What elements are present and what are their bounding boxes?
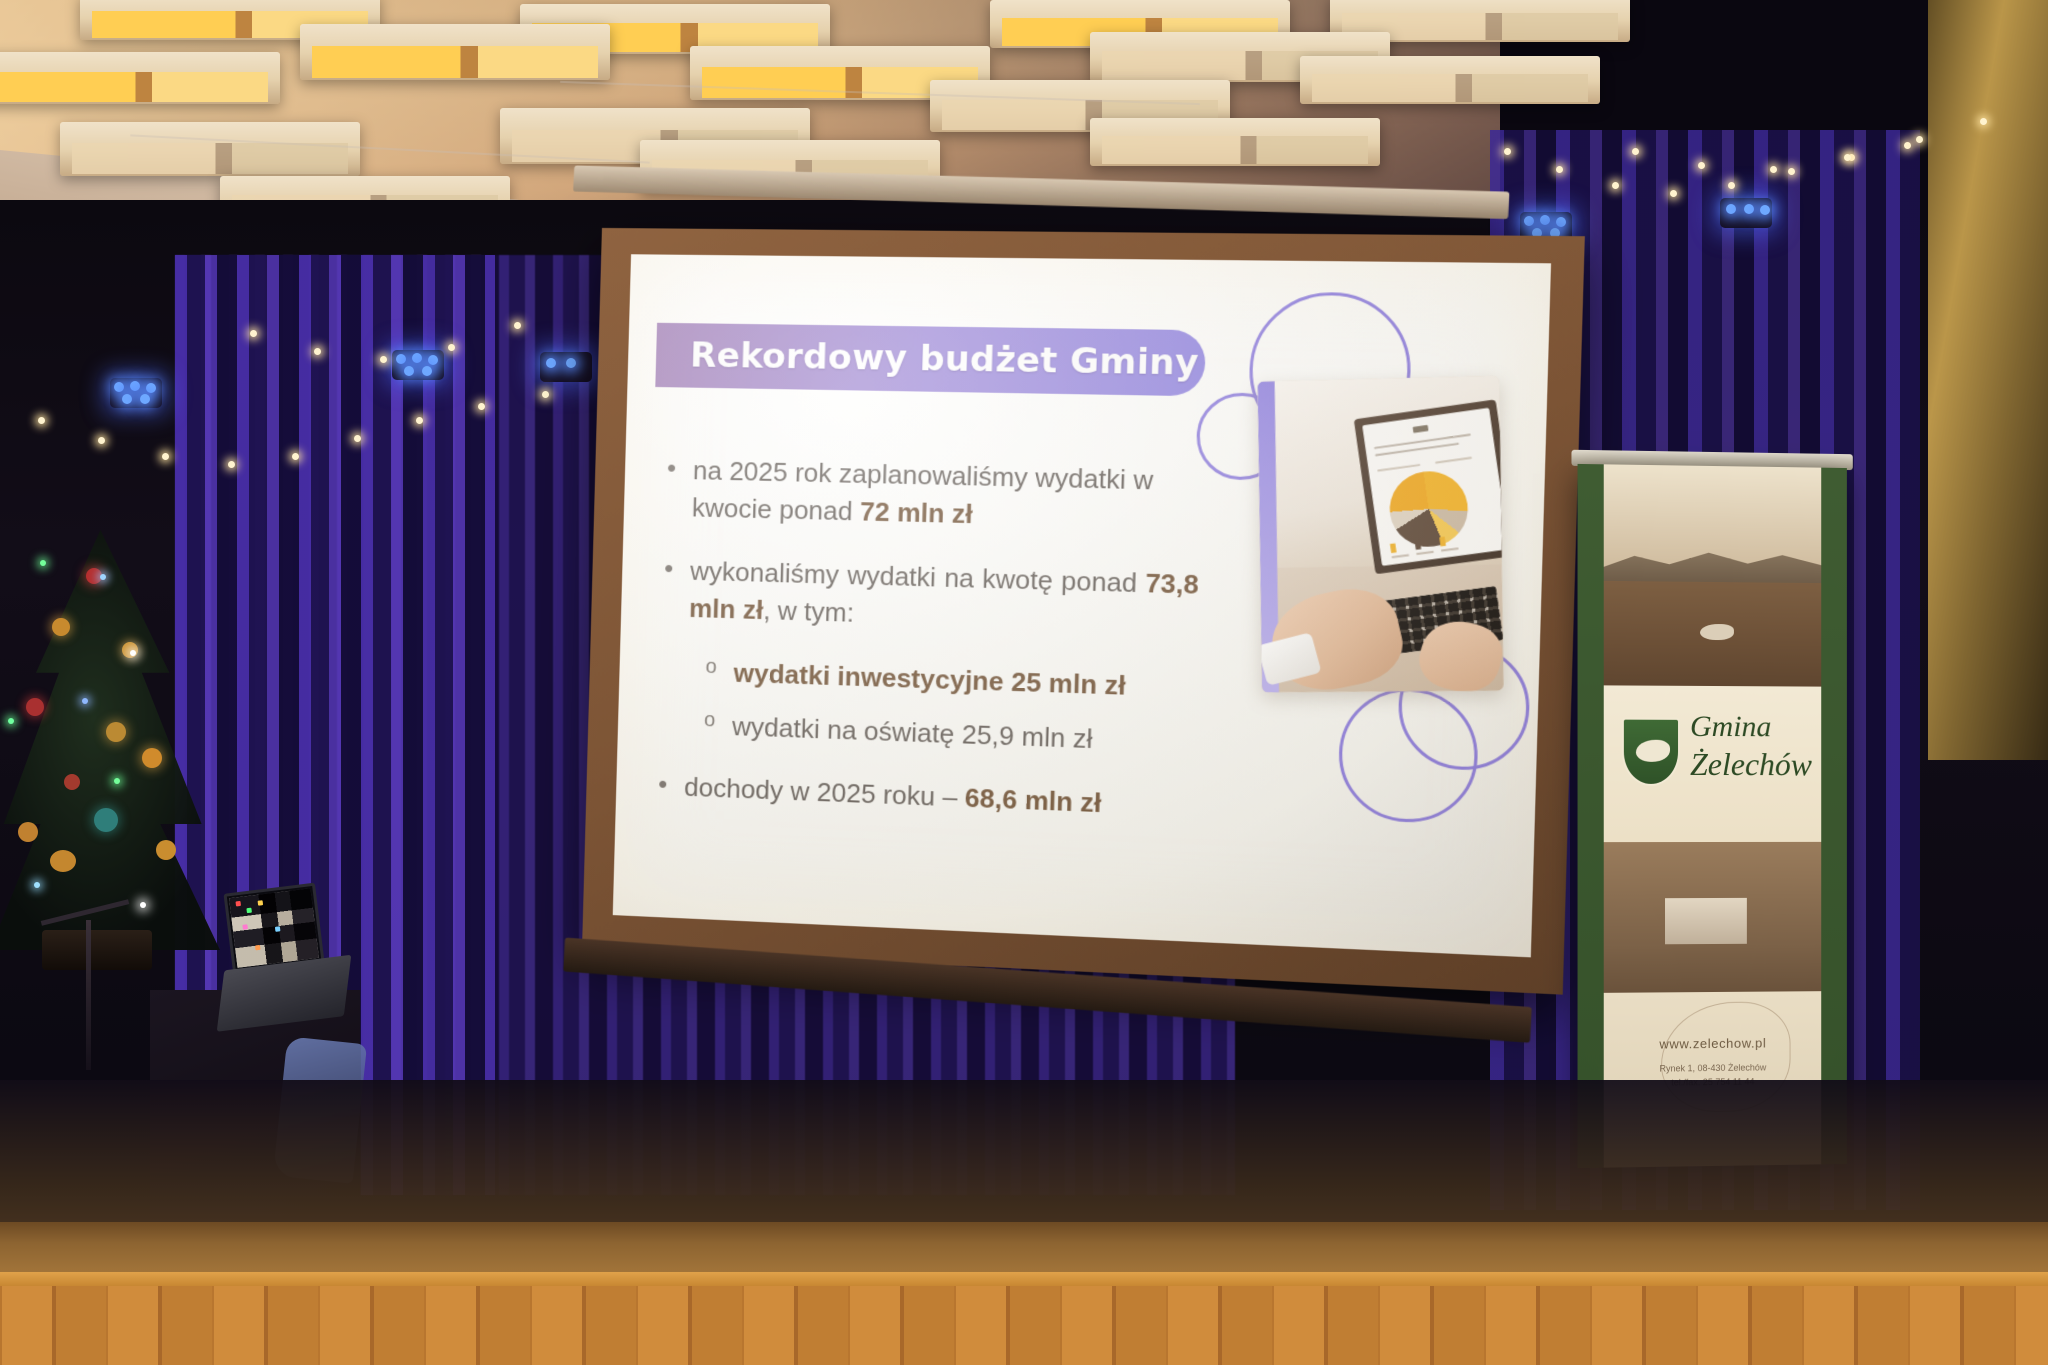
sub-bullet-text-bold: wydatki inwestycyjne 25 mln zł bbox=[733, 657, 1126, 700]
tree-light bbox=[82, 698, 88, 704]
tree-light bbox=[34, 882, 40, 888]
slide-graphic bbox=[1175, 276, 1546, 827]
tree-ornament bbox=[18, 822, 38, 842]
presentation-slide: Rekordowy budżet Gminy • na 2025 rok zap… bbox=[613, 254, 1551, 957]
sub-bullet-marker: o bbox=[705, 653, 734, 691]
control-laptop[interactable] bbox=[223, 883, 324, 974]
bullet-text: na 2025 rok zaplanowaliśmy wydatki w kwo… bbox=[691, 452, 1202, 539]
bullet-text-bold: 72 mln zł bbox=[860, 496, 974, 529]
photo-laptop-screen bbox=[1354, 399, 1504, 574]
banner-swan-photo bbox=[1700, 624, 1734, 640]
tree-light bbox=[100, 574, 106, 580]
coat-of-arms-icon bbox=[1622, 718, 1680, 786]
bullet-text-bold: 68,6 mln zł bbox=[964, 783, 1102, 819]
bullet-item: • dochody w 2025 roku – 68,6 mln zł bbox=[658, 768, 1193, 826]
banner-palace bbox=[1665, 898, 1747, 944]
banner-frame: Gmina Żelechów www.zelechow.pl Rynek 1, … bbox=[1578, 464, 1847, 1168]
bullet-text: wykonaliśmy wydatki na kwotę ponad 73,8 … bbox=[689, 552, 1200, 641]
christmas-tree bbox=[0, 530, 220, 950]
tree-light bbox=[114, 778, 120, 784]
fairy-light-string bbox=[30, 395, 590, 485]
tree-ornament bbox=[64, 774, 80, 790]
rollup-banner: Gmina Żelechów www.zelechow.pl Rynek 1, … bbox=[1578, 464, 1847, 1168]
bullet-marker: • bbox=[663, 552, 691, 627]
banner-artwork: Gmina Żelechów www.zelechow.pl Rynek 1, … bbox=[1604, 464, 1821, 1167]
sub-bullet-text: wydatki na oświatę 25,9 mln zł bbox=[732, 707, 1195, 761]
projection-screen: Rekordowy budżet Gminy • na 2025 rok zap… bbox=[582, 228, 1585, 995]
bullet-marker: • bbox=[665, 452, 693, 527]
venue-photo: Rekordowy budżet Gminy • na 2025 rok zap… bbox=[0, 0, 2048, 1365]
bullet-text-before: wykonaliśmy wydatki na kwotę ponad bbox=[690, 555, 1146, 598]
banner-town-photo bbox=[1604, 842, 1821, 993]
banner-website: www.zelechow.pl bbox=[1604, 1035, 1821, 1052]
sub-bullet-text: wydatki inwestycyjne 25 mln zł bbox=[733, 654, 1196, 707]
laptop-photo bbox=[1258, 376, 1504, 693]
stage-front-panelling bbox=[0, 1286, 2048, 1365]
screen-frame: Rekordowy budżet Gminy • na 2025 rok zap… bbox=[582, 228, 1585, 995]
tree-ornament bbox=[52, 618, 70, 636]
sub-bullet-item: o wydatki na oświatę 25,9 mln zł bbox=[703, 706, 1194, 761]
bullet-item: • na 2025 rok zaplanowaliśmy wydatki w k… bbox=[665, 452, 1202, 539]
tree-stand bbox=[42, 930, 152, 970]
ceiling-light-fixture bbox=[60, 122, 360, 176]
banner-title-line1: Gmina bbox=[1690, 710, 1813, 744]
tree-ornament bbox=[26, 698, 44, 716]
banner-title-line2: Żelechów bbox=[1690, 746, 1813, 783]
tree-light bbox=[40, 560, 46, 566]
ceiling-light-fixture bbox=[300, 24, 610, 80]
slide-bullet-list: • na 2025 rok zaplanowaliśmy wydatki w k… bbox=[657, 452, 1202, 854]
ceiling-light-fixture bbox=[1090, 118, 1380, 166]
sub-bullet-marker: o bbox=[703, 706, 732, 744]
bullet-marker: • bbox=[658, 768, 685, 806]
tree-ornament bbox=[142, 748, 162, 768]
slide-title-pill: Rekordowy budżet Gminy bbox=[655, 323, 1206, 397]
photo-chart-legend bbox=[1390, 535, 1459, 558]
fairy-light-string bbox=[240, 300, 580, 390]
bullet-text-after: , w tym: bbox=[763, 595, 855, 628]
bullet-text-before: dochody w 2025 roku – bbox=[684, 772, 965, 813]
banner-title: Gmina Żelechów bbox=[1690, 710, 1813, 783]
tree-light bbox=[130, 650, 136, 656]
tree-ornament bbox=[156, 840, 176, 860]
tree-ornament bbox=[50, 850, 76, 872]
bullet-item: • wykonaliśmy wydatki na kwotę ponad 73,… bbox=[663, 552, 1200, 642]
sub-bullet-item: o wydatki inwestycyjne 25 mln zł bbox=[705, 653, 1196, 707]
tree-ornament bbox=[94, 808, 118, 832]
fairy-light-string bbox=[1620, 108, 2020, 208]
ceiling-light-fixture bbox=[1300, 56, 1600, 104]
bullet-text: dochody w 2025 roku – 68,6 mln zł bbox=[684, 769, 1193, 826]
tree-light bbox=[8, 718, 14, 724]
ceiling-light-fixture bbox=[0, 52, 280, 104]
slide-title: Rekordowy budżet Gminy bbox=[690, 335, 1199, 384]
tree-light bbox=[140, 902, 146, 908]
tree-ornament bbox=[106, 722, 126, 742]
mic-stand bbox=[86, 920, 91, 1070]
